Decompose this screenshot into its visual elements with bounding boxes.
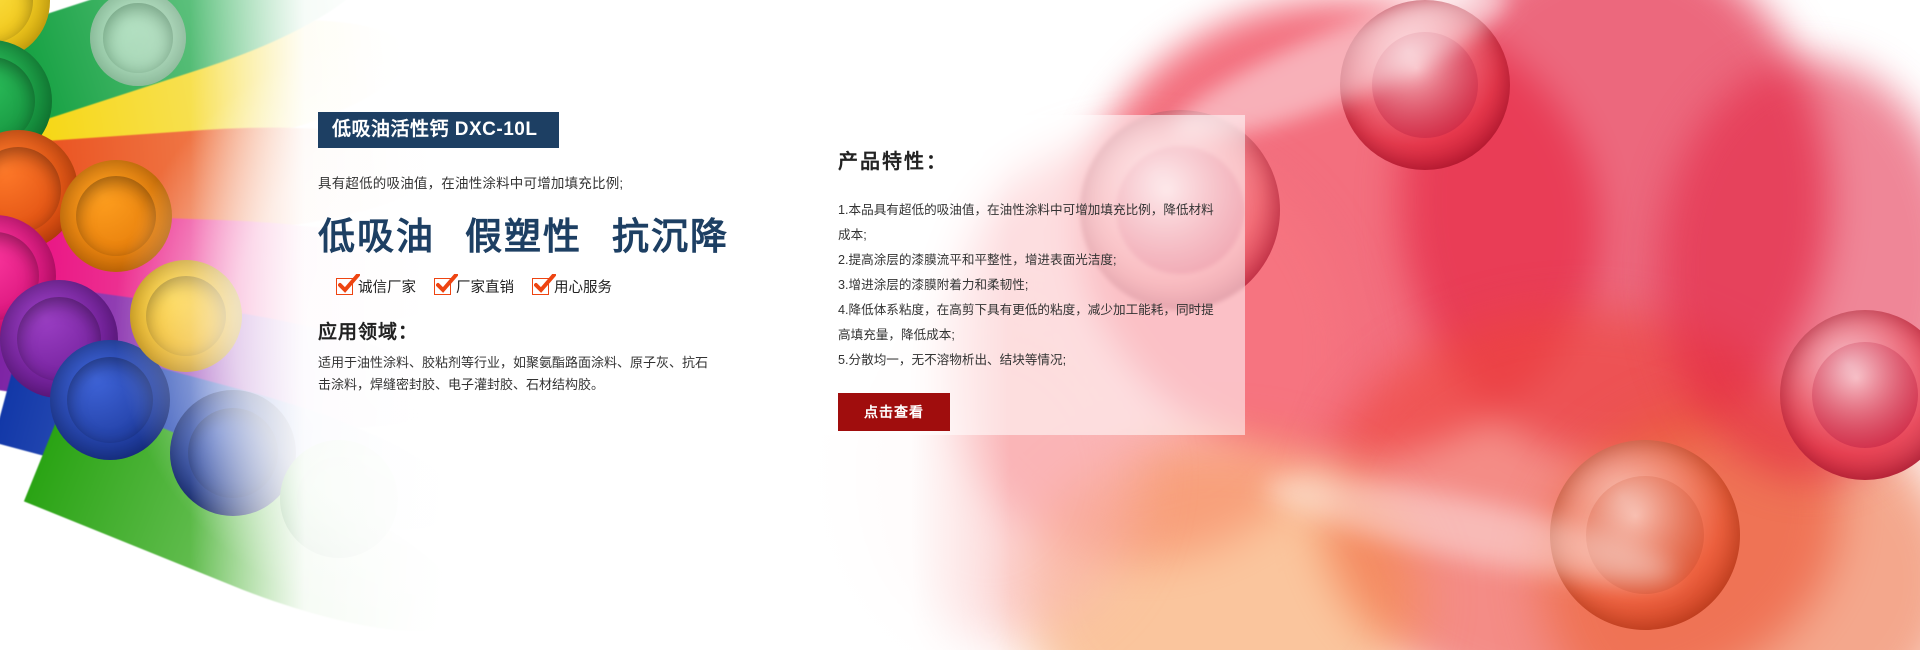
application-fields-title: 应用领域： [318, 317, 738, 344]
key-benefits-row: 低吸油 假塑性 抗沉降 [318, 206, 738, 260]
feature-list-item: 3.增进涂层的漆膜附着力和柔韧性; [838, 273, 1230, 298]
trust-badge-label: 用心服务 [554, 276, 612, 297]
check-icon [532, 278, 549, 295]
feature-list-item: 4.降低体系粘度，在高剪下具有更低的粘度，减少加工能耗，同时提 [838, 298, 1230, 323]
key-benefit-3: 抗沉降 [612, 206, 729, 260]
feature-list-item: 5.分散均一，无不溶物析出、结块等情况; [838, 348, 1230, 373]
hero-copy-column: 低吸油活性钙 DXC-10L 具有超低的吸油值，在油性涂料中可增加填充比例; 低… [318, 112, 738, 396]
trust-badges-row: 诚信厂家 厂家直销 用心服务 [336, 276, 738, 297]
feature-list-item: 2.提高涂层的漆膜流平和平整性，增进表面光洁度; [838, 248, 1230, 273]
trust-badge-label: 诚信厂家 [358, 276, 416, 297]
check-icon [434, 278, 451, 295]
feature-list-item: 高填充量，降低成本; [838, 323, 1230, 348]
trust-badge-3: 用心服务 [532, 276, 612, 297]
trust-badge-1: 诚信厂家 [336, 276, 416, 297]
feature-card-title: 产品特性： [838, 145, 1230, 174]
view-details-button[interactable]: 点击查看 [838, 393, 950, 431]
product-subline: 具有超低的吸油值，在油性涂料中可增加填充比例; [318, 172, 738, 192]
hero-banner: 低吸油活性钙 DXC-10L 具有超低的吸油值，在油性涂料中可增加填充比例; 低… [0, 0, 1920, 650]
check-icon [336, 278, 353, 295]
feature-list-item: 成本; [838, 223, 1230, 248]
feature-list-item: 1.本品具有超低的吸油值，在油性涂料中可增加填充比例，降低材料 [838, 198, 1230, 223]
application-fields-body: 适用于油性涂料、胶粘剂等行业，如聚氨酯路面涂料、原子灰、抗石击涂料，焊缝密封胶、… [318, 352, 718, 396]
key-benefit-2: 假塑性 [465, 206, 582, 260]
trust-badge-2: 厂家直销 [434, 276, 514, 297]
feature-card-content: 产品特性： 1.本品具有超低的吸油值，在油性涂料中可增加填充比例，降低材料 成本… [838, 145, 1230, 431]
trust-badge-label: 厂家直销 [456, 276, 514, 297]
feature-list: 1.本品具有超低的吸油值，在油性涂料中可增加填充比例，降低材料 成本; 2.提高… [838, 198, 1230, 373]
product-title-badge: 低吸油活性钙 DXC-10L [318, 112, 559, 148]
key-benefit-1: 低吸油 [318, 206, 435, 260]
